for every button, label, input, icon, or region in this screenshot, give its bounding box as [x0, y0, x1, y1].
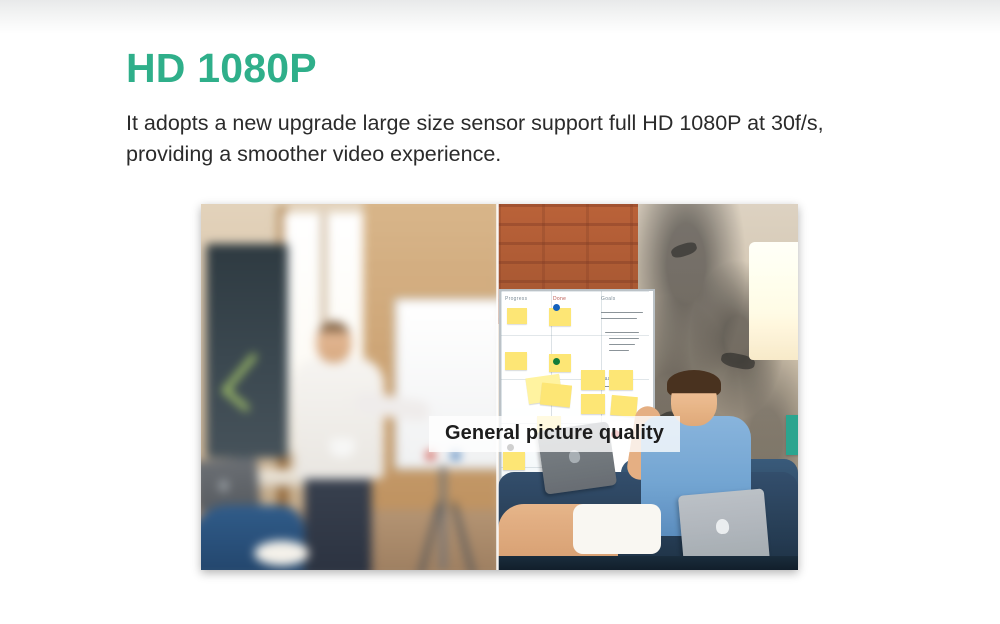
- comparison-left-half: [201, 204, 498, 570]
- scene-artwork-left: [201, 204, 498, 570]
- whiteboard-column-done: Done: [553, 296, 566, 302]
- description-line-2: providing a smoother video experience.: [126, 139, 976, 170]
- comparison-right-half: Progress Done Goals Backlog: [498, 204, 798, 570]
- whiteboard-column-goals: Goals: [601, 296, 616, 302]
- comparison-divider: [496, 204, 499, 570]
- scene-artwork-right: Progress Done Goals Backlog: [498, 204, 798, 570]
- whiteboard-column-progress: Progress: [505, 296, 527, 302]
- promo-page: HD 1080P It adopts a new upgrade large s…: [0, 0, 1000, 624]
- right-quality-badge: HD 1080P: [786, 415, 798, 455]
- top-gradient-band: [0, 0, 1000, 34]
- left-quality-label: General picture quality: [429, 416, 680, 452]
- page-title: HD 1080P: [126, 46, 317, 91]
- description-paragraph: It adopts a new upgrade large size senso…: [126, 108, 976, 169]
- comparison-photo: Progress Done Goals Backlog: [201, 204, 798, 570]
- description-line-1: It adopts a new upgrade large size senso…: [126, 108, 976, 139]
